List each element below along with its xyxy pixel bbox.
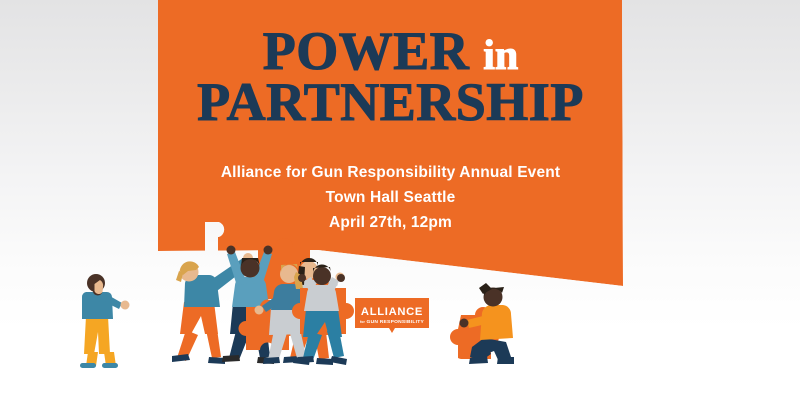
alliance-logo[interactable]: ALLIANCE for GUN RESPONSIBILITY bbox=[355, 298, 429, 334]
people-puzzle-illustration bbox=[0, 0, 800, 400]
poster-canvas: POWER in PARTNERSHIP Alliance for Gun Re… bbox=[0, 0, 800, 400]
figure-1-blue-yellow bbox=[80, 274, 130, 368]
logo-banner-shape bbox=[355, 298, 429, 334]
